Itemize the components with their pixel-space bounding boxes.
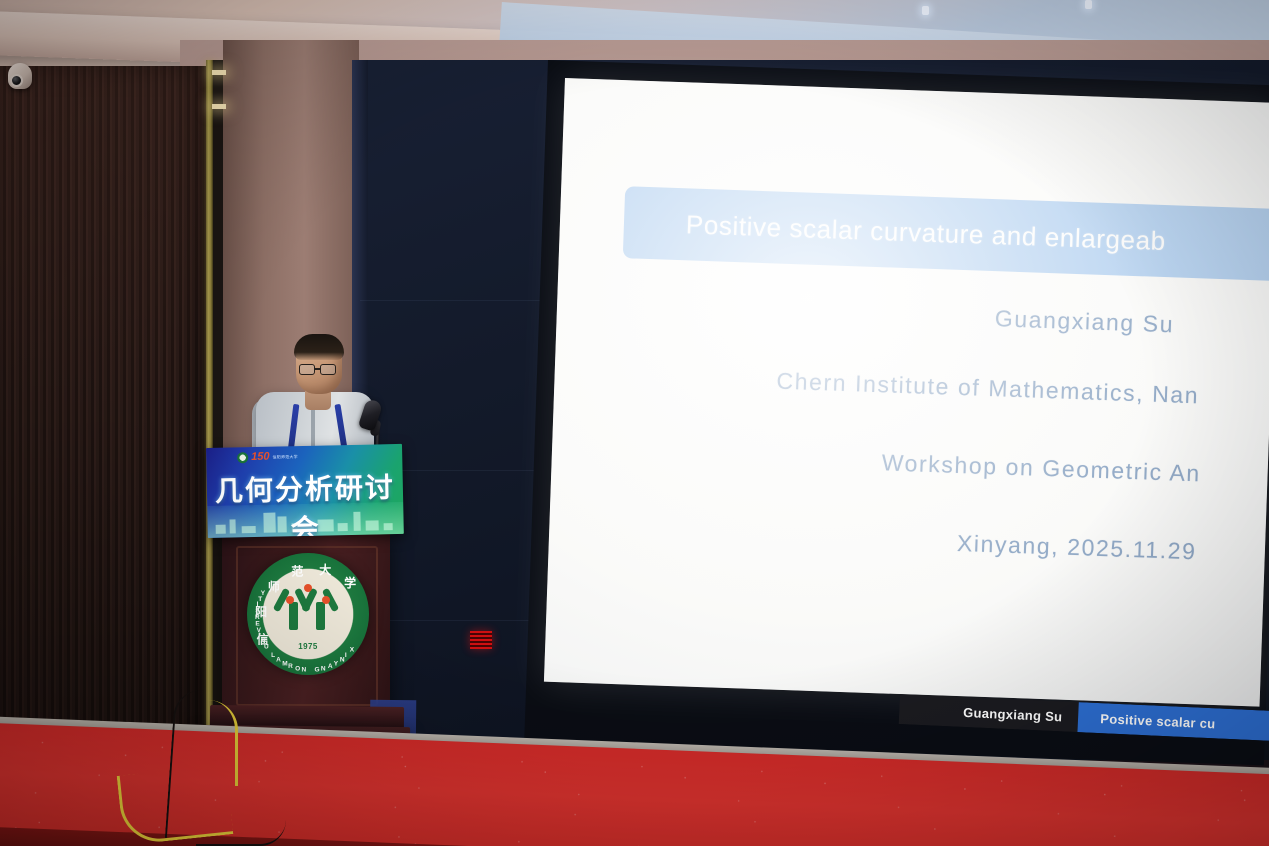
podium-banner: 150 信阳师范大学 几何分析研讨会 (206, 444, 404, 538)
slide-title-text: Positive scalar curvature and enlargeab (623, 207, 1166, 257)
emblem-dot-right (322, 596, 330, 604)
banner-anniversary-logo: 150 信阳师范大学 (237, 451, 298, 463)
speaker-glasses-bridge (315, 368, 320, 370)
security-camera-icon (10, 74, 23, 87)
emblem-dot-left (286, 596, 294, 604)
university-badge-icon (237, 452, 248, 463)
banner-logo-subtext: 信阳师范大学 (273, 454, 298, 460)
ceiling-spotlight-2 (1085, 0, 1092, 9)
conference-photo-scene: Positive scalar curvature and enlargeab … (0, 0, 1269, 846)
slide-place-date: Xinyang, 2025.11.29 (957, 530, 1197, 565)
cable-yellow (117, 764, 234, 845)
speaker-hair (294, 334, 344, 360)
slide-affiliation: Chern Institute of Mathematics, Nan (776, 368, 1200, 410)
emblem-figure-left (289, 602, 298, 630)
speaker-glasses-right-lens (320, 364, 336, 375)
emblem-figures-icon (275, 584, 341, 630)
ceiling-spotlight-1 (922, 6, 929, 15)
university-emblem: 信 阳 师 范 大 学 X I N Y A N G N O R M A L U … (247, 553, 369, 675)
emblem-dot-center (304, 584, 312, 592)
wall-accent-light-1 (212, 70, 226, 75)
emblem-founded-year: 1975 (298, 642, 317, 651)
wall-red-indicator-light (470, 631, 492, 649)
slide-content: Positive scalar curvature and enlargeab … (544, 78, 1269, 707)
speaker-glasses-left-lens (299, 364, 315, 375)
slide-event-name: Workshop on Geometric An (881, 449, 1201, 487)
banner-title-text: 几何分析研讨会 (206, 466, 403, 538)
projection-screen: Positive scalar curvature and enlargeab … (544, 78, 1269, 707)
slide-title-bar: Positive scalar curvature and enlargeab (623, 186, 1269, 284)
wall-accent-light-2 (212, 104, 226, 109)
slide-author: Guangxiang Su (994, 305, 1174, 338)
emblem-figure-right (316, 602, 325, 630)
banner-logo-number: 150 (251, 452, 270, 463)
